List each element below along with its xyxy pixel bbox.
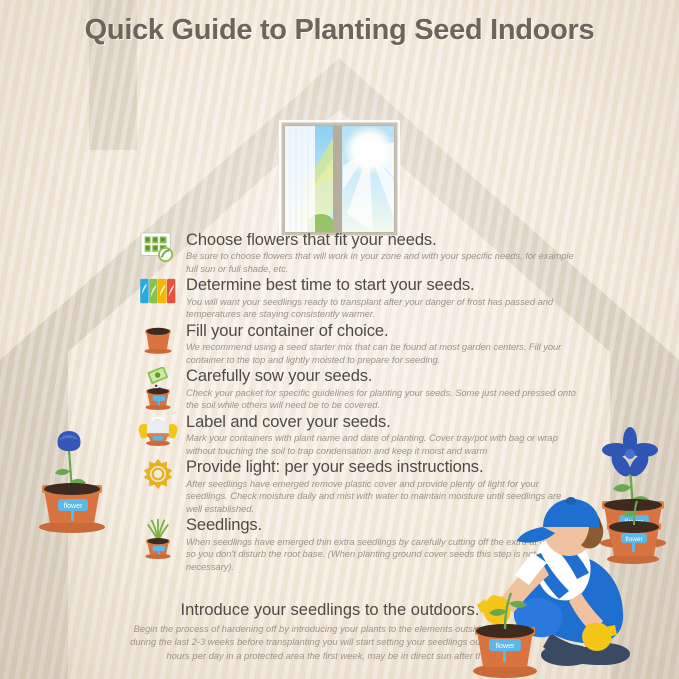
step-description: You will want your seedlings ready to tr… — [186, 296, 576, 321]
seed-packet-pouring-icon — [136, 367, 180, 410]
sunlit-window-illustration — [277, 118, 402, 240]
step-item-2: Determine best time to start your seeds.… — [136, 276, 576, 320]
step-heading: Choose flowers that fit your needs. — [186, 231, 576, 249]
step-item-3: Fill your container of choice. We recomm… — [136, 322, 576, 366]
step-heading: Determine best time to start your seeds. — [186, 276, 576, 294]
seed-catalog-icon — [136, 231, 180, 263]
seasonal-calendar-icon — [136, 276, 180, 306]
step-item-1: Choose flowers that fit your needs. Be s… — [136, 231, 576, 275]
potted-flower-left: flower — [33, 415, 111, 538]
svg-text:flower: flower — [64, 503, 83, 510]
step-description: Mark your containers with plant name and… — [186, 432, 576, 457]
svg-text:flower: flower — [625, 536, 643, 543]
step-item-5: Label and cover your seeds. Mark your co… — [136, 413, 576, 457]
step-item-4: Carefully sow your seeds. Check your pac… — [136, 367, 576, 411]
empty-pot-icon — [136, 322, 180, 355]
step-heading: Provide light: per your seeds instructio… — [186, 458, 576, 476]
page-title: Quick Guide to Planting Seed Indoors — [0, 14, 679, 47]
step-description: We recommend using a seed starter mix th… — [186, 341, 576, 366]
step-heading: Carefully sow your seeds. — [186, 367, 576, 385]
seedlings-pot-icon — [136, 516, 180, 559]
step-heading: Label and cover your seeds. — [186, 413, 576, 431]
step-description: Check your packet for specific guideline… — [186, 387, 576, 412]
step-description: Be sure to choose flowers that will work… — [186, 250, 576, 275]
svg-text:flower: flower — [495, 641, 515, 650]
gardener-illustration: flower — [455, 495, 679, 679]
sun-light-icon — [136, 458, 180, 490]
infographic-poster: Quick Guide to Planting Seed Indoors — [0, 0, 679, 679]
gloves-covering-pot-icon — [136, 413, 180, 446]
step-heading: Fill your container of choice. — [186, 322, 576, 340]
